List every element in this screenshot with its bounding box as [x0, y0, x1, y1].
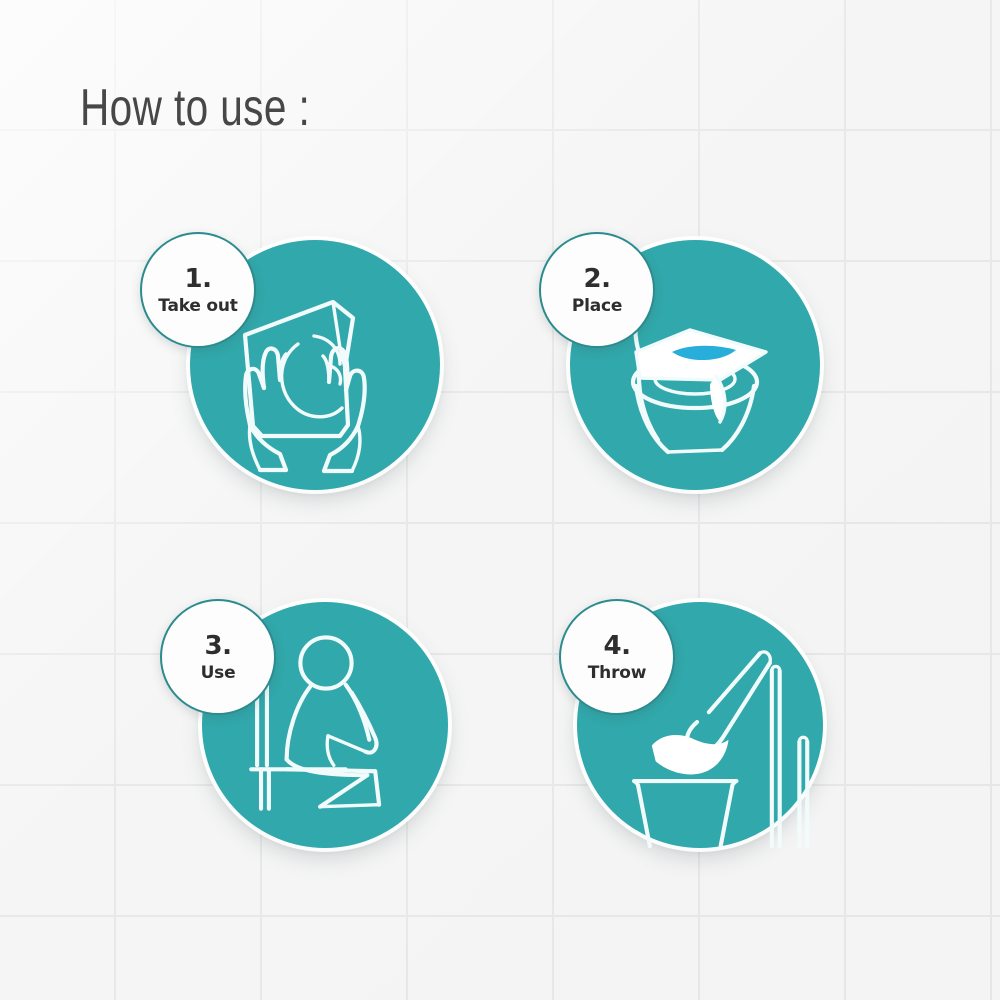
step-1-label: Take out — [158, 298, 237, 315]
step-1-number: 1. — [185, 266, 212, 292]
step-4-number: 4. — [604, 633, 631, 659]
step-3-number: 3. — [205, 633, 232, 659]
step-2-number: 2. — [584, 266, 611, 292]
step-2-badge[interactable]: 2. Place — [539, 232, 655, 348]
page-title: How to use : — [80, 78, 310, 138]
step-4-badge[interactable]: 4. Throw — [559, 599, 675, 715]
step-1-badge[interactable]: 1. Take out — [140, 232, 256, 348]
step-4-label: Throw — [588, 665, 646, 682]
how-to-use-infographic: How to use : — [0, 0, 1000, 1000]
tile-wall-background — [0, 0, 1000, 1000]
step-3-badge[interactable]: 3. Use — [160, 599, 276, 715]
step-2-label: Place — [572, 298, 622, 315]
step-3-label: Use — [201, 665, 236, 682]
